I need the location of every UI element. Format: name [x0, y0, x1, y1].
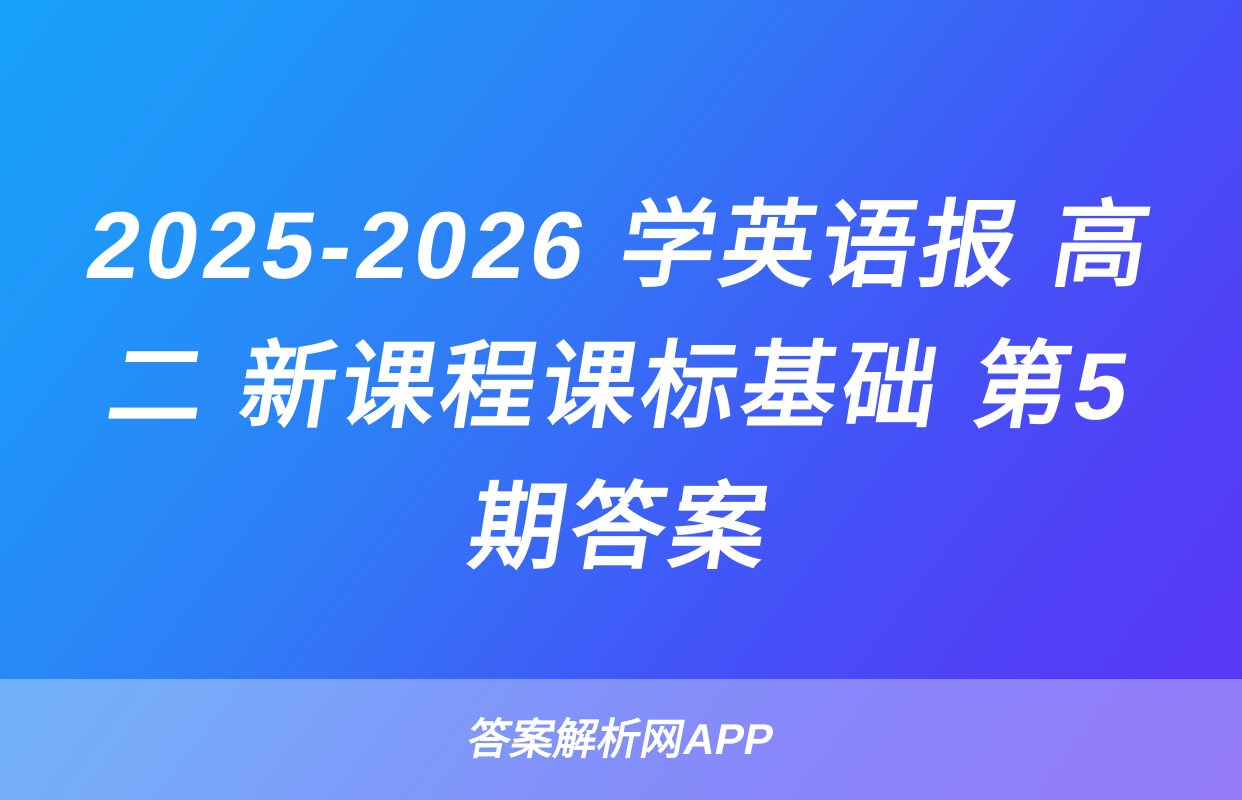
- title-line-1: 2025-2026 学英语报 高: [23, 176, 1219, 317]
- title-line-2: 二 新课程课标基础 第5: [23, 317, 1219, 458]
- poster-canvas: 2025-2026 学英语报 高 二 新课程课标基础 第5 期答案 答案解析网A…: [0, 0, 1242, 800]
- title-line-3: 期答案: [23, 458, 1219, 599]
- bottom-watermark-bar: 答案解析网APP: [0, 679, 1242, 800]
- page-title: 2025-2026 学英语报 高 二 新课程课标基础 第5 期答案: [0, 176, 1242, 628]
- app-watermark-label: 答案解析网APP: [464, 719, 777, 762]
